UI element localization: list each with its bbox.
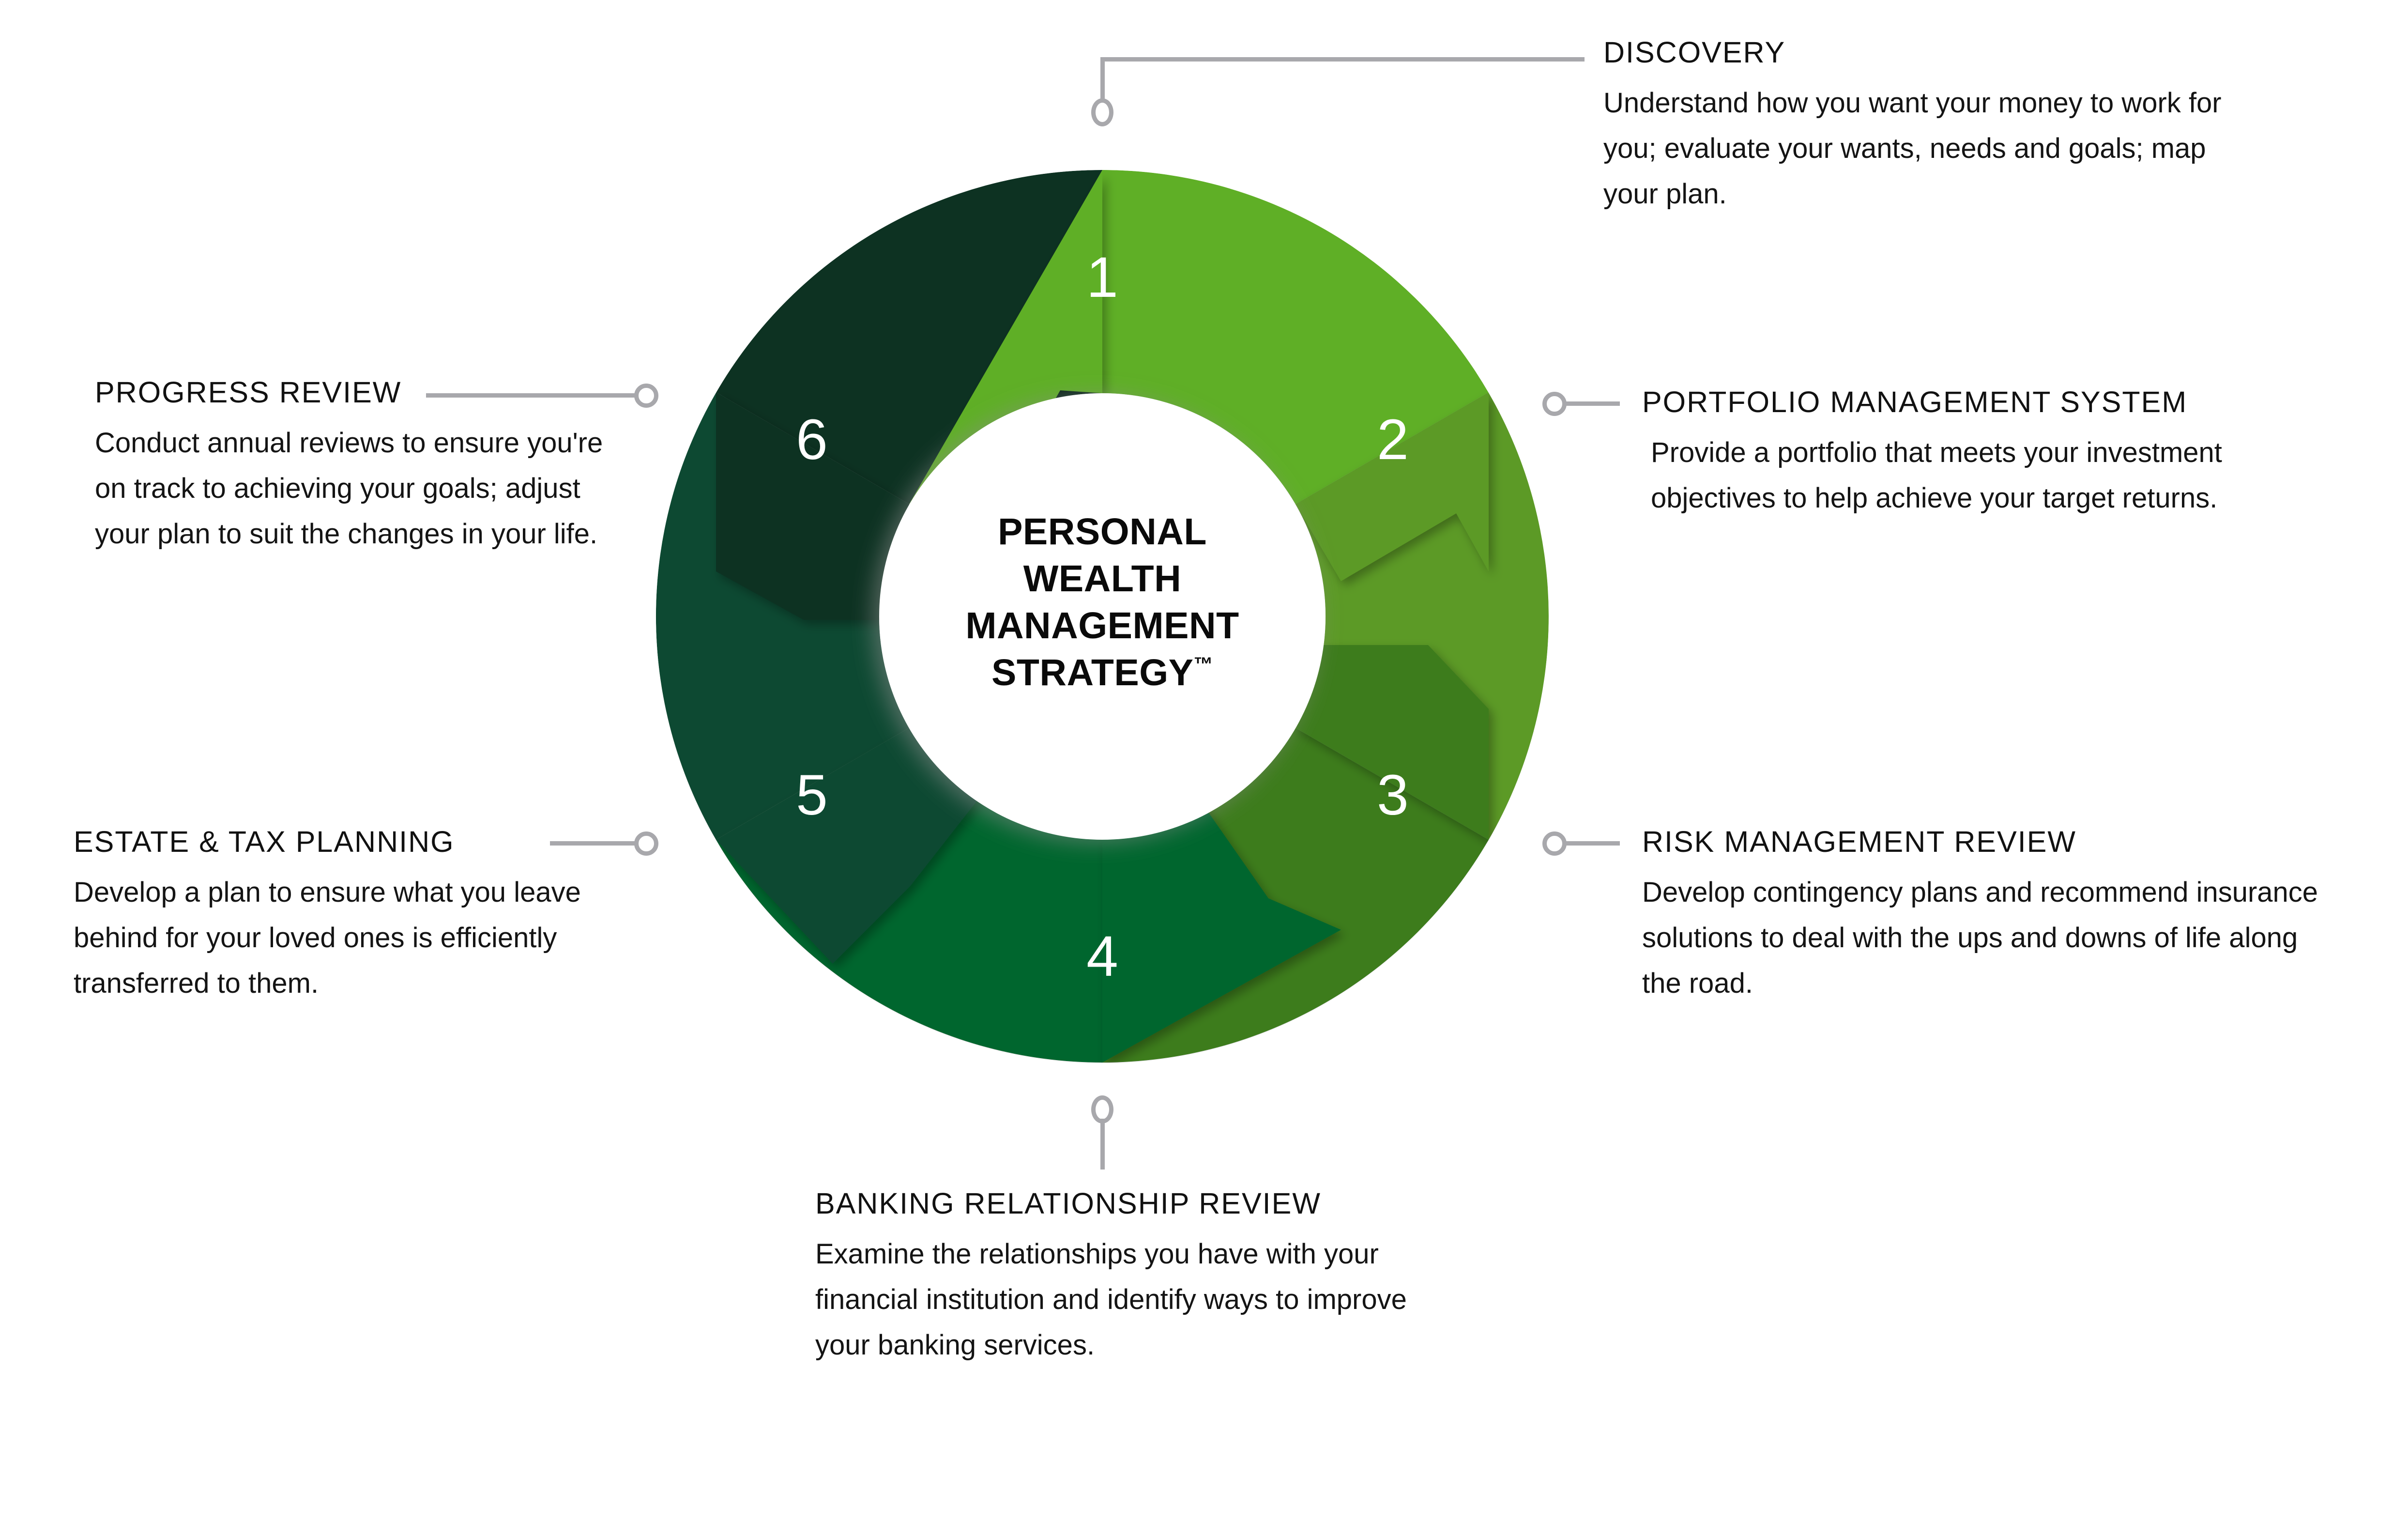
hub-line-3: MANAGEMENT <box>914 602 1291 649</box>
hub-line-4: STRATEGY™ <box>914 649 1291 696</box>
callout-title-estate: ESTATE & TAX PLANNING <box>74 826 645 858</box>
callout-estate: ESTATE & TAX PLANNING Develop a plan to … <box>74 826 645 1006</box>
trademark-symbol: ™ <box>1194 654 1214 675</box>
arrow-head-2 <box>1295 392 1489 581</box>
hub-title: PERSONAL WEALTH MANAGEMENT STRATEGY™ <box>914 508 1291 696</box>
callout-title-banking: BANKING RELATIONSHIP REVIEW <box>815 1187 1541 1220</box>
callout-body-banking: Examine the relationships you have with … <box>815 1231 1459 1368</box>
segment-number-4: 4 <box>1086 924 1118 988</box>
segment-number-2: 2 <box>1377 408 1409 472</box>
callout-body-estate: Develop a plan to ensure what you leave … <box>74 870 625 1006</box>
callout-risk: RISK MANAGEMENT REVIEW Develop contingen… <box>1642 826 2397 1006</box>
callout-portfolio: PORTFOLIO MANAGEMENT SYSTEM Provide a po… <box>1642 386 2397 521</box>
arrow-head-1 <box>909 170 1102 507</box>
wheel-segment-4[interactable] <box>716 728 1102 1062</box>
connector-dot-portfolio <box>1542 392 1567 416</box>
callout-body-progress: Conduct annual reviews to ensure you're … <box>95 420 632 557</box>
connector-line-risk <box>1566 841 1620 846</box>
callout-body-portfolio: Provide a portfolio that meets your inve… <box>1651 430 2261 521</box>
connector-line-discovery-horizontal <box>1100 57 1585 62</box>
segment-number-1: 1 <box>1086 246 1118 309</box>
connector-line-portfolio <box>1566 401 1620 406</box>
callout-body-risk: Develop contingency plans and recommend … <box>1642 870 2330 1006</box>
infographic-canvas: 1 2 3 4 5 6 PERSONAL WEALTH MANAGEMENT S… <box>0 0 2408 1539</box>
segment-number-3: 3 <box>1377 763 1409 827</box>
segment-number-6: 6 <box>796 408 828 472</box>
arrow-head-5 <box>716 728 997 964</box>
connector-line-banking <box>1100 1119 1105 1170</box>
callout-title-discovery: DISCOVERY <box>1603 36 2330 69</box>
wheel-segment-2[interactable] <box>1295 392 1549 840</box>
wheel-segment-1[interactable] <box>1102 170 1489 504</box>
callout-banking: BANKING RELATIONSHIP REVIEW Examine the … <box>815 1187 1541 1368</box>
hub-line-1: PERSONAL <box>914 508 1291 555</box>
wheel-segment-5[interactable] <box>656 392 909 840</box>
hub-line-4-text: STRATEGY <box>991 652 1194 693</box>
callout-title-progress: PROGRESS REVIEW <box>95 376 666 409</box>
connector-line-discovery-vertical <box>1100 57 1105 102</box>
segment-number-5: 5 <box>796 763 828 827</box>
arrow-head-6 <box>716 392 909 620</box>
wheel-segment-6[interactable] <box>716 170 1102 504</box>
connector-dot-risk <box>1542 831 1567 856</box>
callout-progress: PROGRESS REVIEW Conduct annual reviews t… <box>95 376 666 557</box>
callout-title-portfolio: PORTFOLIO MANAGEMENT SYSTEM <box>1642 386 2397 418</box>
connector-dot-discovery <box>1091 98 1113 126</box>
callout-discovery: DISCOVERY Understand how you want your m… <box>1603 36 2330 217</box>
wheel-segment-3[interactable] <box>1102 728 1489 1062</box>
callout-title-risk: RISK MANAGEMENT REVIEW <box>1642 826 2397 858</box>
arrow-head-4 <box>1102 794 1341 1062</box>
arrow-head-3 <box>1295 645 1489 840</box>
hub-line-2: WEALTH <box>914 555 1291 602</box>
callout-body-discovery: Understand how you want your money to wo… <box>1603 80 2238 217</box>
